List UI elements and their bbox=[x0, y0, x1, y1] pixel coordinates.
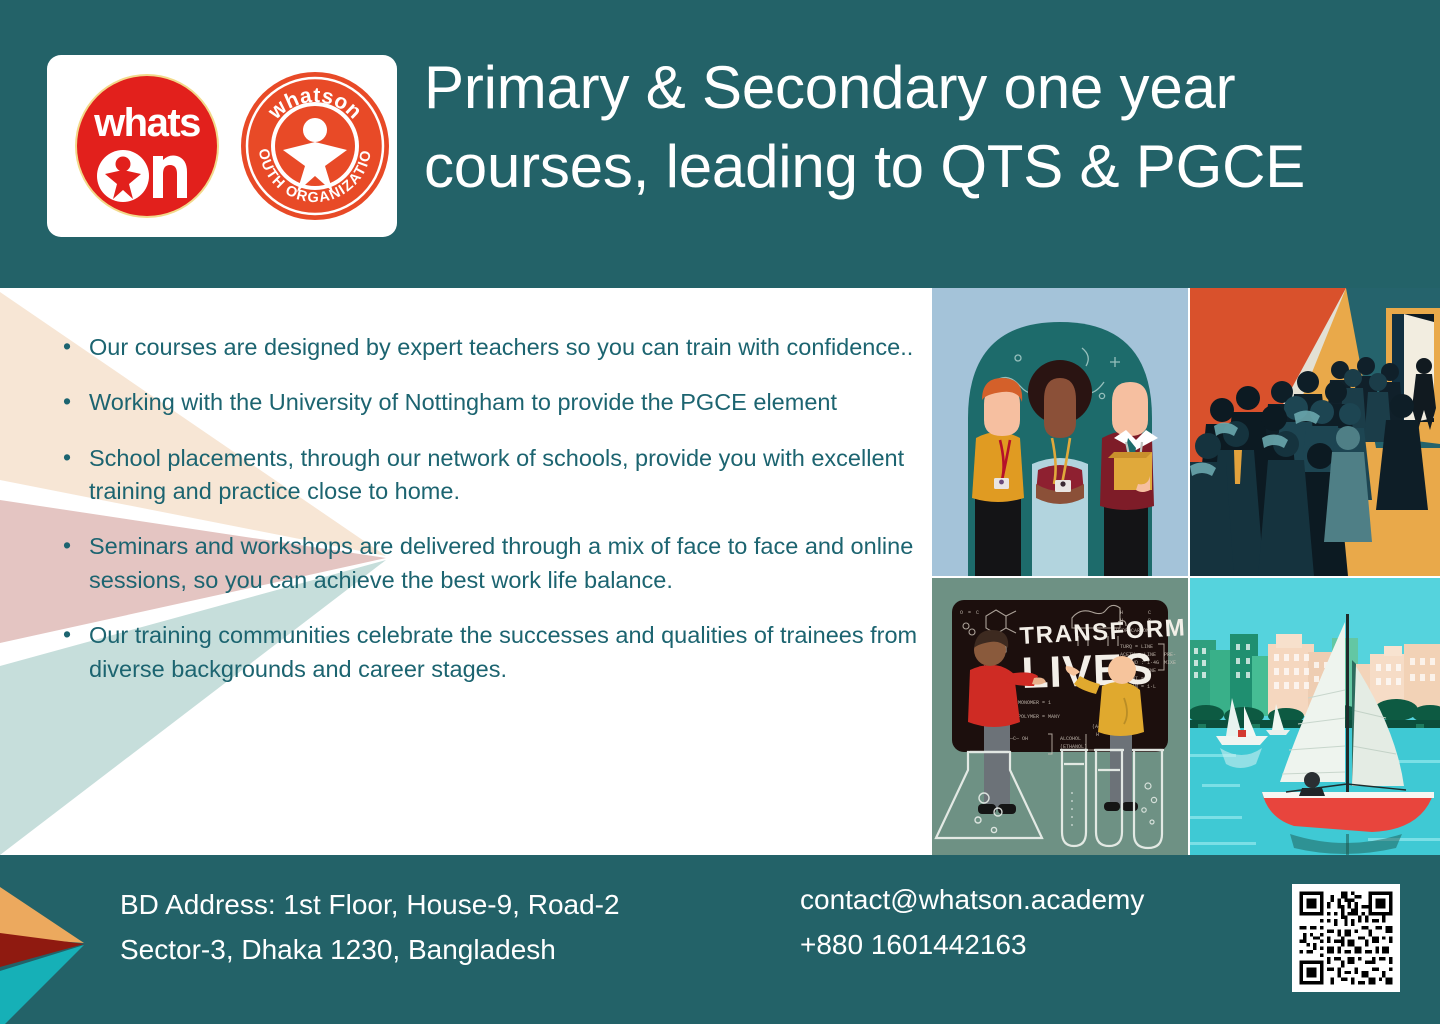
svg-text:O: O bbox=[960, 610, 963, 616]
svg-text:H: H bbox=[1120, 610, 1123, 616]
footer-phone[interactable]: +880 1601442163 bbox=[800, 922, 1270, 967]
svg-text:MIXE: MIXE bbox=[1164, 660, 1176, 666]
svg-text:H: H bbox=[1096, 732, 1099, 738]
content-area: Our courses are designed by expert teach… bbox=[0, 288, 1440, 855]
list-item: Our courses are designed by expert teach… bbox=[55, 331, 923, 364]
sailboat-city-illustration bbox=[1190, 578, 1440, 855]
footer-email[interactable]: contact@whatson.academy bbox=[800, 877, 1270, 922]
footer-address: BD Address: 1st Floor, House-9, Road-2 S… bbox=[120, 882, 760, 973]
transform-lives-blackboard-illustration: O=C OH C H C — H HC HB HYDROCARBONS TURQ… bbox=[932, 578, 1188, 855]
header-band: whats bbox=[0, 0, 1440, 288]
svg-text:MONOMER = 1: MONOMER = 1 bbox=[1018, 700, 1051, 706]
image-collage: ? ? bbox=[932, 288, 1440, 855]
whatson-primary-logo-icon: whats bbox=[65, 64, 229, 228]
list-item: Working with the University of Nottingha… bbox=[55, 386, 923, 419]
feature-bullet-list: Our courses are designed by expert teach… bbox=[55, 331, 923, 708]
footer-contact: contact@whatson.academy +880 1601442163 bbox=[800, 877, 1270, 968]
whatson-youth-organization-seal: whatson YOUTH ORGANIZATION bbox=[233, 55, 397, 237]
qr-code-image bbox=[1296, 888, 1396, 988]
svg-text:whats: whats bbox=[93, 101, 200, 145]
crowd-through-doorway-illustration bbox=[1190, 288, 1440, 576]
three-teachers-illustration: ? ? bbox=[932, 288, 1188, 576]
page-title: Primary & Secondary one year courses, le… bbox=[424, 48, 1420, 206]
svg-text:ALCOHOL: ALCOHOL bbox=[1060, 736, 1081, 742]
svg-text:POLYMER = MANY: POLYMER = MANY bbox=[1018, 714, 1060, 720]
svg-text:PRE-: PRE- bbox=[1164, 652, 1176, 658]
flyer-page: whats bbox=[0, 0, 1440, 1024]
list-item: School placements, through our network o… bbox=[55, 442, 923, 509]
footer-address-line2: Sector-3, Dhaka 1230, Bangladesh bbox=[120, 927, 760, 972]
svg-text:C: C bbox=[976, 610, 979, 616]
svg-text:=: = bbox=[968, 610, 971, 616]
logo-container: whats bbox=[47, 55, 397, 237]
footer-band: BD Address: 1st Floor, House-9, Road-2 S… bbox=[0, 855, 1440, 1024]
list-item: Seminars and workshops are delivered thr… bbox=[55, 530, 923, 597]
list-item: Our training communities celebrate the s… bbox=[55, 619, 923, 686]
qr-code[interactable] bbox=[1292, 884, 1400, 992]
whatson-primary-logo: whats bbox=[65, 55, 229, 237]
footer-address-line1: BD Address: 1st Floor, House-9, Road-2 bbox=[120, 882, 760, 927]
whatson-youth-organization-seal-icon: whatson YOUTH ORGANIZATION bbox=[233, 64, 397, 228]
svg-text:C: C bbox=[1148, 610, 1151, 616]
